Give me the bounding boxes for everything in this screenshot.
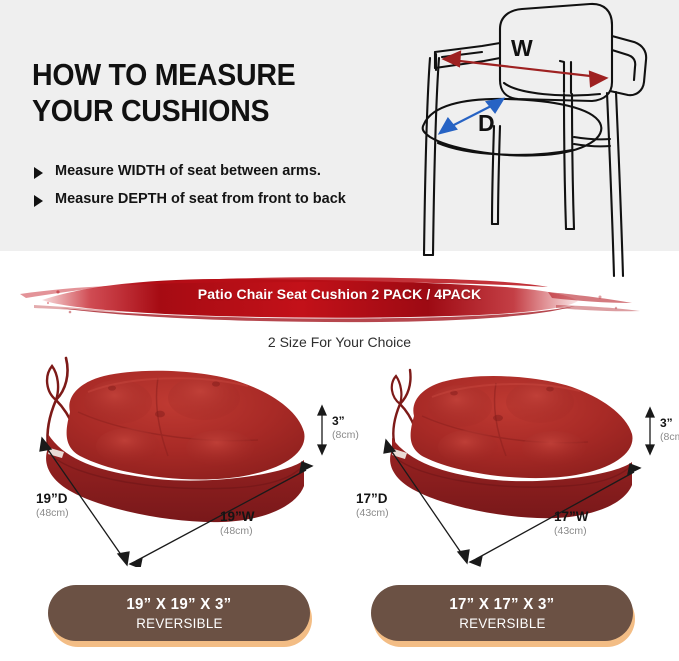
badge-17-inch: 17” X 17” X 3” REVERSIBLE — [371, 585, 633, 647]
triangle-bullet-icon — [34, 195, 43, 207]
badge-19-inch: 19” X 19” X 3” REVERSIBLE — [48, 585, 310, 647]
page-title: HOW TO MEASURE YOUR CUSHIONS — [32, 57, 363, 129]
cushion-19-illustration — [8, 352, 348, 567]
badge-reversible-text: REVERSIBLE — [459, 615, 545, 632]
badge-reversible-text: REVERSIBLE — [136, 615, 222, 632]
page-title-line-1: HOW TO MEASURE — [32, 57, 363, 93]
badge-body: 17” X 17” X 3” REVERSIBLE — [371, 585, 633, 641]
cushion-17-thickness-label: 3” (8cm) — [660, 416, 679, 444]
instruction-text: Measure WIDTH of seat between arms. — [55, 163, 321, 179]
badge-body: 19” X 19” X 3” REVERSIBLE — [48, 585, 310, 641]
page-title-line-2: YOUR CUSHIONS — [32, 93, 363, 129]
cushion-19-width-label: 19”W (48cm) — [220, 510, 255, 538]
cushion-17-width-label: 17”W (43cm) — [554, 510, 589, 538]
product-banner: Patio Chair Seat Cushion 2 PACK / 4PACK — [0, 272, 679, 324]
width-label: W — [511, 35, 533, 61]
list-item: Measure WIDTH of seat between arms. — [34, 163, 414, 179]
depth-label: D — [478, 110, 495, 136]
cushion-17-block: 17”D (43cm) 17”W (43cm) 3” (8cm) — [348, 352, 679, 567]
subtitle-text: 2 Size For Your Choice — [0, 334, 679, 350]
list-item: Measure DEPTH of seat from front to back — [34, 191, 414, 207]
badge-size-text: 17” X 17” X 3” — [449, 595, 554, 614]
cushion-17-illustration — [348, 352, 679, 567]
banner-title: Patio Chair Seat Cushion 2 PACK / 4PACK — [0, 286, 679, 302]
chair-diagram: W D — [414, 0, 679, 283]
chair-illustration-svg: W D — [414, 0, 679, 283]
infographic-page: HOW TO MEASURE YOUR CUSHIONS Measure WID… — [0, 0, 679, 661]
instruction-text: Measure DEPTH of seat from front to back — [55, 191, 346, 207]
measure-instructions-list: Measure WIDTH of seat between arms. Meas… — [34, 163, 414, 219]
cushion-19-depth-label: 19”D (48cm) — [36, 492, 69, 520]
badge-size-text: 19” X 19” X 3” — [126, 595, 231, 614]
triangle-bullet-icon — [34, 167, 43, 179]
cushion-19-block: 19”D (48cm) 19”W (48cm) 3” (8cm) — [8, 352, 348, 567]
cushion-17-depth-label: 17”D (43cm) — [356, 492, 389, 520]
